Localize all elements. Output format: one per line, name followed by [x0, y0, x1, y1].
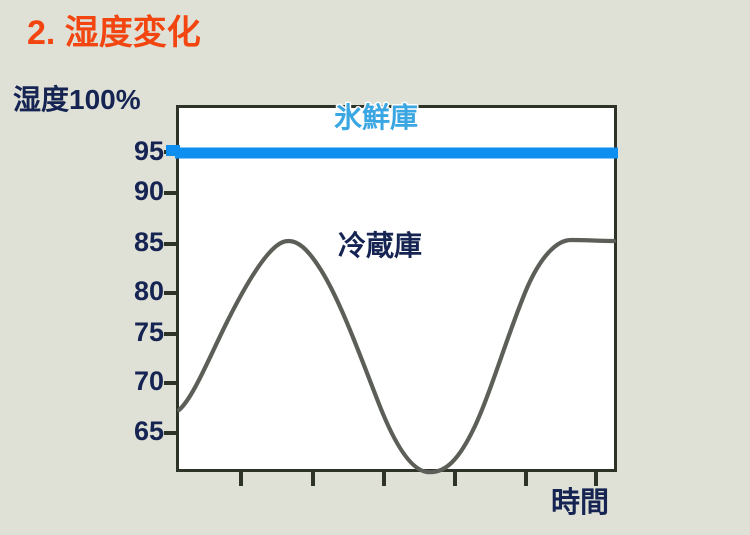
x-tick-mark-3 [382, 472, 386, 486]
series-line-reizoko [179, 240, 614, 472]
series-line-hyosenko-left-cap [166, 145, 180, 156]
plot-svg [179, 108, 614, 469]
x-tick-mark-1 [239, 472, 243, 486]
x-tick-mark-6 [594, 472, 598, 486]
x-tick-mark-2 [311, 472, 315, 486]
series-label-hyosenko: 氷鮮庫 [334, 104, 418, 132]
x-tick-mark-4 [453, 472, 457, 486]
x-tick-mark-5 [524, 472, 528, 486]
series-label-reizoko: 冷蔵庫 [338, 232, 422, 260]
plot-area [176, 105, 617, 472]
y-axis-tick-marks [0, 0, 200, 535]
x-axis-tick-marks [0, 472, 750, 492]
x-axis-label: 時間 [551, 489, 609, 518]
slide-canvas: 2. 湿度変化 湿度100% 95 90 85 80 75 70 65 氷鮮庫 … [0, 0, 750, 535]
